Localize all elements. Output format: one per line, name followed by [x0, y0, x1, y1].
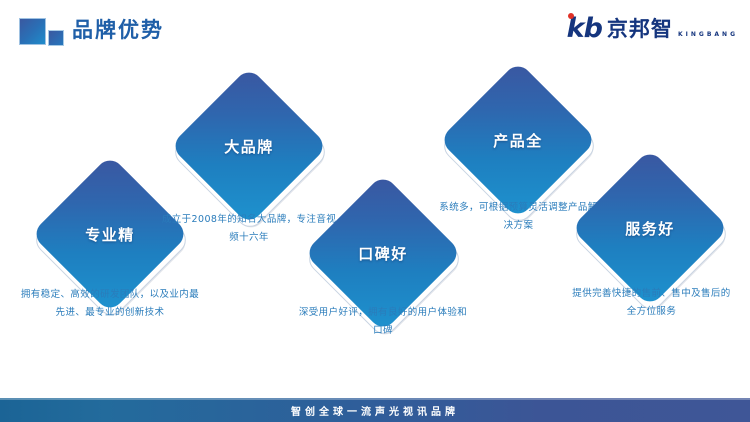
diamond-shape-1[interactable]: 专业精 — [54, 178, 166, 290]
card-description-2: 成立于2008年的知名大品牌，专注音视频十六年 — [161, 211, 337, 247]
slide-root: 品牌优势 kb 京邦智 KINGBANG 专业精 拥有稳定、高效的研发团队，以及… — [0, 0, 750, 422]
footer-slogan: 智创全球一流声光视讯品牌 — [291, 403, 459, 418]
page-title: 品牌优势 — [72, 15, 164, 45]
brand-logo: kb 京邦智 KINGBANG — [567, 12, 738, 46]
diamond-shape-5[interactable]: 服务好 — [594, 172, 706, 284]
diamond-label-1: 专业精 — [54, 178, 166, 290]
diamond-label-5: 服务好 — [594, 172, 706, 284]
diamond-label-2: 大品牌 — [193, 90, 305, 202]
diamond-label-4: 产品全 — [462, 84, 574, 196]
card-description-5: 提供完善快捷的售前、售中及售后的全方位服务 — [570, 285, 733, 321]
diamond-shape-3[interactable]: 口碑好 — [327, 197, 439, 309]
logo-text-group: 京邦智 KINGBANG — [607, 18, 738, 40]
diamond-shape-2[interactable]: 大品牌 — [193, 90, 305, 202]
blue-square-large-icon — [19, 18, 46, 45]
logo-red-dot-icon — [568, 13, 574, 19]
card-description-3: 深受用户好评，拥有良好的用户体验和口碑 — [297, 304, 469, 340]
logo-english-name: KINGBANG — [678, 31, 738, 38]
diamond-shape-4[interactable]: 产品全 — [462, 84, 574, 196]
diamond-label-3: 口碑好 — [327, 197, 439, 309]
card-description-1: 拥有稳定、高效的研发团队，以及业内最先进、最专业的创新技术 — [20, 286, 200, 322]
slide-footer: 智创全球一流声光视讯品牌 — [0, 398, 750, 422]
logo-chinese-name: 京邦智 — [607, 17, 673, 41]
blue-square-small-icon — [48, 30, 64, 46]
